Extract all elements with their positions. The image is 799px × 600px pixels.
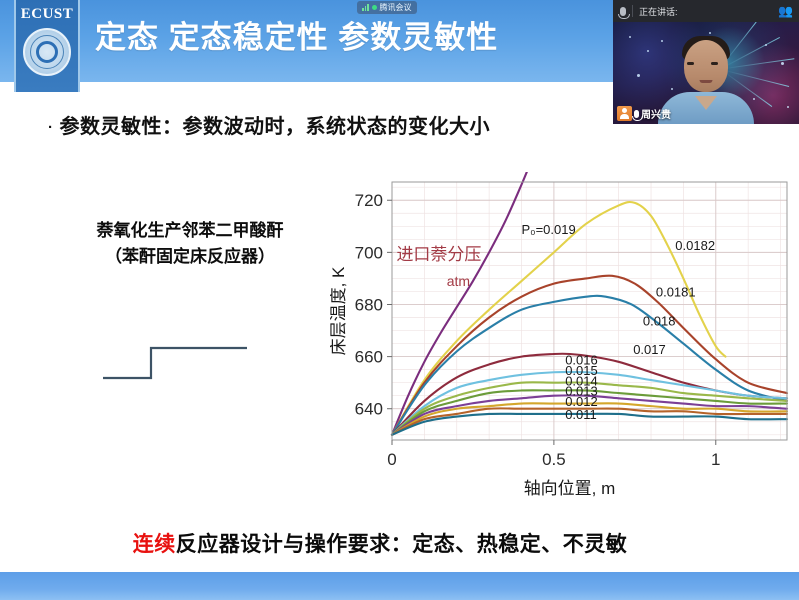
y-tick-label: 680 [355,295,383,314]
x-tick-label: 0 [387,450,396,469]
microphone-icon [620,7,626,16]
participant-name-tag: 周兴贵 [617,106,671,121]
x-tick-label: 1 [711,450,720,469]
people-icon[interactable]: 👥 [778,5,793,17]
decor-spark [661,40,663,42]
video-panel-header: 正在讲话: 👥 [613,0,799,22]
decor-spark [647,50,649,52]
participant-mouth [700,80,713,83]
curve-label-0019: P₀=0.019 [522,222,576,237]
decor-spark [753,98,755,100]
curve-label-00181: 0.0181 [656,285,696,300]
divider [632,5,633,17]
ecust-logo: ECUST [14,0,80,92]
speaking-status-text: 正在讲话: [639,5,678,18]
decor-spark [629,36,631,38]
video-feed[interactable]: 周兴贵 [613,22,799,124]
page-title: 定态 定态稳定性 参数灵敏性 [95,12,585,57]
bullet-point: ·参数灵敏性：参数波动时，系统状态的变化大小 [48,110,490,139]
decor-spark [787,106,789,108]
avatar-icon [617,106,632,121]
chart-svg: 64066068070072000.51轴向位置, m床层温度, KP₀=0.0… [330,172,795,502]
example-caption-line1: 萘氧化生产邻苯二甲酸酐 [55,218,325,244]
example-caption: 萘氧化生产邻苯二甲酸酐 （苯酐固定床反应器） [55,218,325,269]
temperature-profile-chart: 64066068070072000.51轴向位置, m床层温度, KP₀=0.0… [330,172,795,502]
axis-note-inlet-partial-pressure: 进口萘分压 [396,245,481,264]
participant-name: 周兴贵 [641,106,671,121]
decor-spark [709,32,711,34]
video-panel[interactable]: 正在讲话: 👥 [613,0,799,124]
example-caption-line2: （苯酐固定床反应器） [55,244,325,270]
participant-eye [687,62,694,65]
footer-statement: 连续反应器设计与操作要求：定态、热稳定、不灵敏 [0,528,760,558]
bullet-marker-icon: · [48,119,54,136]
slide-canvas: ECUST 定态 定态稳定性 参数灵敏性 腾讯会议 正在讲话: 👥 [0,0,799,600]
curve-label-0017: 0.017 [633,342,666,357]
decor-spark [637,74,640,77]
step-line [103,348,247,378]
ecust-logo-text: ECUST [21,6,74,23]
tencent-meeting-watermark: 腾讯会议 [357,1,417,14]
watermark-label: 腾讯会议 [380,2,412,13]
curve-label-0011: 0.011 [565,407,597,422]
curve-label-00182: 0.0182 [675,238,715,253]
y-tick-label: 700 [355,243,383,262]
y-tick-label: 640 [355,400,383,419]
y-tick-label: 720 [355,191,383,210]
step-function-diagram [95,330,275,390]
microphone-icon [634,110,639,118]
slide-footer-band [0,572,799,600]
avatar [684,40,728,92]
y-axis-label: 床层温度, K [330,266,348,355]
status-dot-icon [372,5,377,10]
footer-highlight: 连续 [133,533,176,556]
bullet-point-text: 参数灵敏性：参数波动时，系统状态的变化大小 [60,116,491,138]
signal-bars-icon [362,4,369,11]
participant-collar [695,96,717,110]
ecust-seal-icon [23,28,71,76]
decor-spark [765,44,767,46]
x-tick-label: 0.5 [542,450,566,469]
decor-spark [781,62,784,65]
participant-eye [711,62,718,65]
curve-label-0018: 0.018 [643,313,676,328]
decor-spark [671,88,673,90]
axis-note-unit: atm [447,273,470,289]
x-axis-label: 轴向位置, m [524,479,616,498]
footer-rest: 反应器设计与操作要求：定态、热稳定、不灵敏 [176,533,628,556]
y-tick-label: 660 [355,348,383,367]
